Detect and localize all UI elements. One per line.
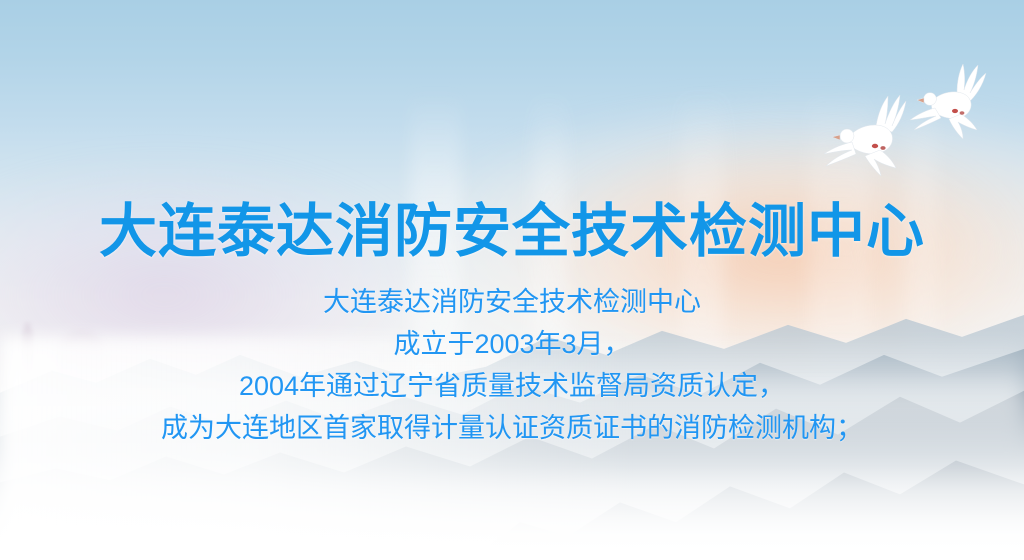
banner-content: 大连泰达消防安全技术检测中心 大连泰达消防安全技术检测中心 成立于2003年3月… bbox=[0, 0, 1024, 560]
intro-line: 2004年通过辽宁省质量技术监督局资质认定， bbox=[0, 365, 1024, 407]
intro-line: 成为大连地区首家取得计量认证资质证书的消防检测机构； bbox=[0, 407, 1024, 449]
hero-banner: 大连泰达消防安全技术检测中心 大连泰达消防安全技术检测中心 成立于2003年3月… bbox=[0, 0, 1024, 560]
intro-paragraph: 大连泰达消防安全技术检测中心 成立于2003年3月， 2004年通过辽宁省质量技… bbox=[0, 281, 1024, 449]
intro-line: 大连泰达消防安全技术检测中心 bbox=[0, 281, 1024, 323]
intro-line: 成立于2003年3月， bbox=[0, 323, 1024, 365]
page-title: 大连泰达消防安全技术检测中心 bbox=[0, 203, 1024, 261]
